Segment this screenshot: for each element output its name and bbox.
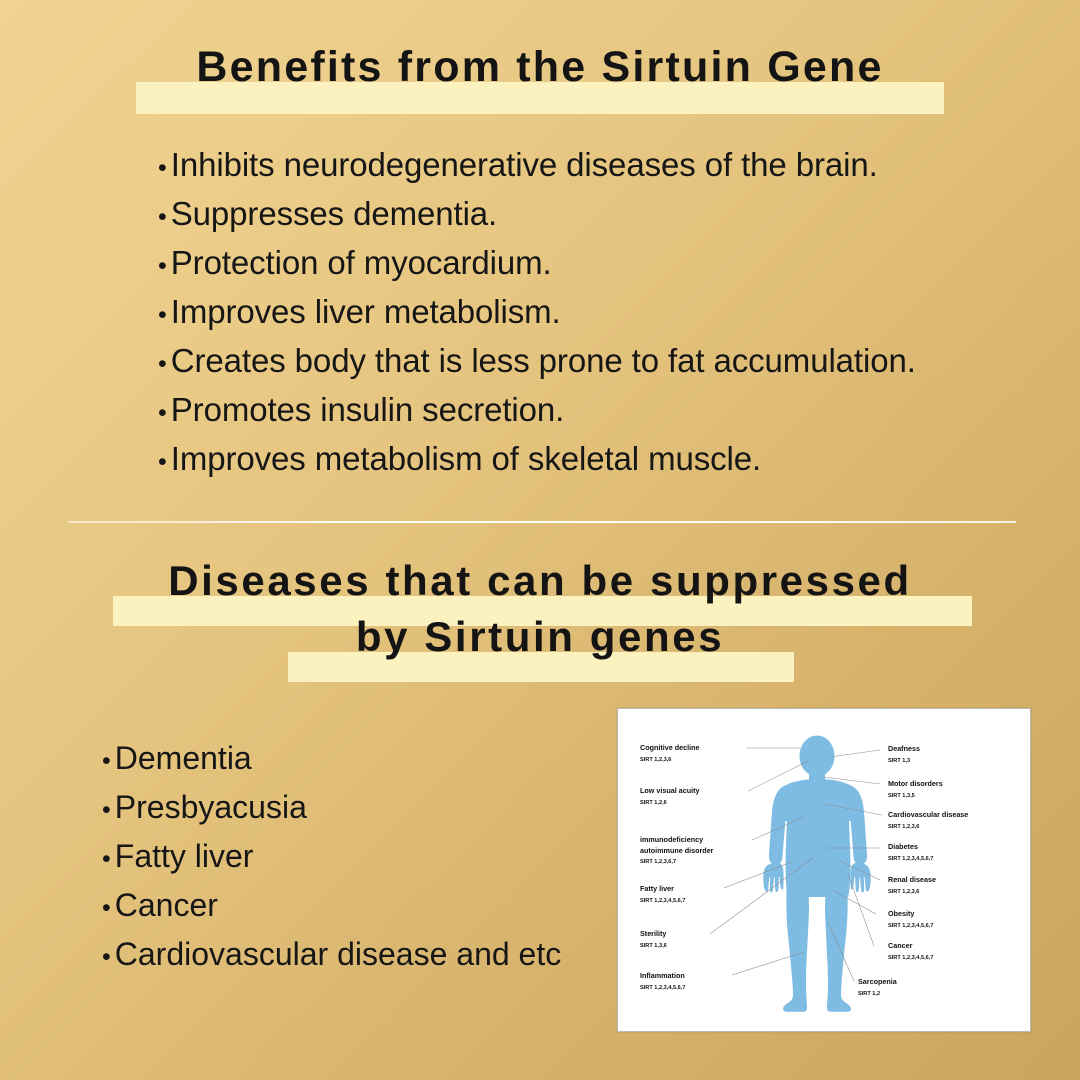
list-item-label: Dementia: [115, 742, 252, 774]
label-name: Deafness: [888, 744, 920, 753]
list-item: • Presbyacusia: [102, 791, 622, 823]
list-item-label: Inhibits neurodegenerative diseases of t…: [171, 148, 878, 181]
diseases-heading-line2: by Sirtuin genes: [356, 613, 724, 660]
list-item-label: Presbyacusia: [115, 791, 307, 823]
bullet-icon: •: [158, 205, 167, 230]
label-sirt: SIRT 1,2,3,6: [640, 757, 671, 763]
label-name: Cardiovascular disease: [888, 810, 968, 819]
benefits-list: • Inhibits neurodegenerative diseases of…: [158, 148, 1008, 491]
human-figure-icon: [763, 736, 870, 1012]
list-item: • Protection of myocardium.: [158, 246, 1008, 279]
poster-canvas: Benefits from the Sirtuin Gene • Inhibit…: [0, 0, 1080, 1080]
label-sirt: SIRT 1,2,3,4,5,6,7: [640, 985, 685, 991]
bullet-icon: •: [102, 945, 111, 970]
list-item: • Promotes insulin secretion.: [158, 393, 1008, 426]
list-item: • Improves liver metabolism.: [158, 295, 1008, 328]
label-name: Inflammation: [640, 971, 685, 980]
right-label-group: Deafness SIRT 1,3 Motor disorders SIRT 1…: [858, 744, 968, 997]
bullet-icon: •: [158, 450, 167, 475]
label-name: Cognitive decline: [640, 743, 700, 752]
label-name: Low visual acuity: [640, 786, 700, 795]
list-item-label: Promotes insulin secretion.: [171, 393, 564, 426]
label-sirt: SIRT 1,2,3,6: [888, 824, 919, 830]
list-item-label: Cardiovascular disease and etc: [115, 938, 561, 970]
label-sirt: SIRT 1,3,5: [888, 793, 915, 799]
bullet-icon: •: [102, 896, 111, 921]
bullet-icon: •: [158, 156, 167, 181]
list-item: • Suppresses dementia.: [158, 197, 1008, 230]
bullet-icon: •: [102, 749, 111, 774]
list-item: • Fatty liver: [102, 840, 622, 872]
list-item: • Creates body that is less prone to fat…: [158, 344, 1008, 377]
label-sirt: SIRT 1,2,3,4,5,6,7: [888, 856, 933, 862]
sirtuin-body-diagram: Cognitive decline SIRT 1,2,3,6 Low visua…: [617, 708, 1031, 1032]
label-sirt: SIRT 1,3: [888, 758, 910, 764]
benefits-heading: Benefits from the Sirtuin Gene: [0, 46, 1080, 89]
label-sirt: SIRT 1,2: [858, 991, 880, 997]
list-item-label: Fatty liver: [115, 840, 254, 872]
label-name-2: autoimmune disorder: [640, 846, 714, 855]
diseases-heading-line1: Diseases that can be suppressed: [168, 557, 912, 604]
list-item: • Inhibits neurodegenerative diseases of…: [158, 148, 1008, 181]
label-name: Obesity: [888, 909, 914, 918]
label-sirt: SIRT 1,2,6: [640, 800, 667, 806]
list-item-label: Protection of myocardium.: [171, 246, 552, 279]
label-name: Sterility: [640, 929, 666, 938]
body-diagram-svg: Cognitive decline SIRT 1,2,3,6 Low visua…: [618, 709, 1030, 1031]
list-item: • Cardiovascular disease and etc: [102, 938, 622, 970]
left-label-group: Cognitive decline SIRT 1,2,3,6 Low visua…: [640, 743, 714, 991]
list-item-label: Suppresses dementia.: [171, 197, 497, 230]
bullet-icon: •: [158, 401, 167, 426]
label-sirt: SIRT 1,2,3,4,5,6,7: [888, 955, 933, 961]
list-item-label: Cancer: [115, 889, 218, 921]
diseases-heading: Diseases that can be suppressed by Sirtu…: [0, 560, 1080, 658]
bullet-icon: •: [102, 798, 111, 823]
list-item-label: Creates body that is less prone to fat a…: [171, 344, 916, 377]
label-sirt: SIRT 1,3,6: [640, 943, 667, 949]
list-item: • Improves metabolism of skeletal muscle…: [158, 442, 1008, 475]
diseases-list: • Dementia • Presbyacusia • Fatty liver …: [102, 742, 622, 987]
label-sirt: SIRT 1,2,3,6,7: [640, 859, 676, 865]
bullet-icon: •: [158, 352, 167, 377]
bullet-icon: •: [102, 847, 111, 872]
list-item: • Dementia: [102, 742, 622, 774]
label-name: Diabetes: [888, 842, 918, 851]
list-item: • Cancer: [102, 889, 622, 921]
label-name: Sarcopenia: [858, 977, 898, 986]
label-name: Renal disease: [888, 875, 936, 884]
section-divider: [68, 521, 1016, 523]
label-name: Fatty liver: [640, 884, 674, 893]
bullet-icon: •: [158, 303, 167, 328]
benefits-heading-text: Benefits from the Sirtuin Gene: [196, 43, 883, 91]
list-item-label: Improves liver metabolism.: [171, 295, 561, 328]
bullet-icon: •: [158, 254, 167, 279]
list-item-label: Improves metabolism of skeletal muscle.: [171, 442, 761, 475]
label-sirt: SIRT 1,2,3,6: [888, 889, 919, 895]
label-name: Motor disorders: [888, 779, 943, 788]
label-sirt: SIRT 1,2,3,4,5,6,7: [888, 923, 933, 929]
label-name: Cancer: [888, 941, 913, 950]
label-name: immunodeficiency: [640, 835, 703, 844]
label-sirt: SIRT 1,2,3,4,5,6,7: [640, 898, 685, 904]
